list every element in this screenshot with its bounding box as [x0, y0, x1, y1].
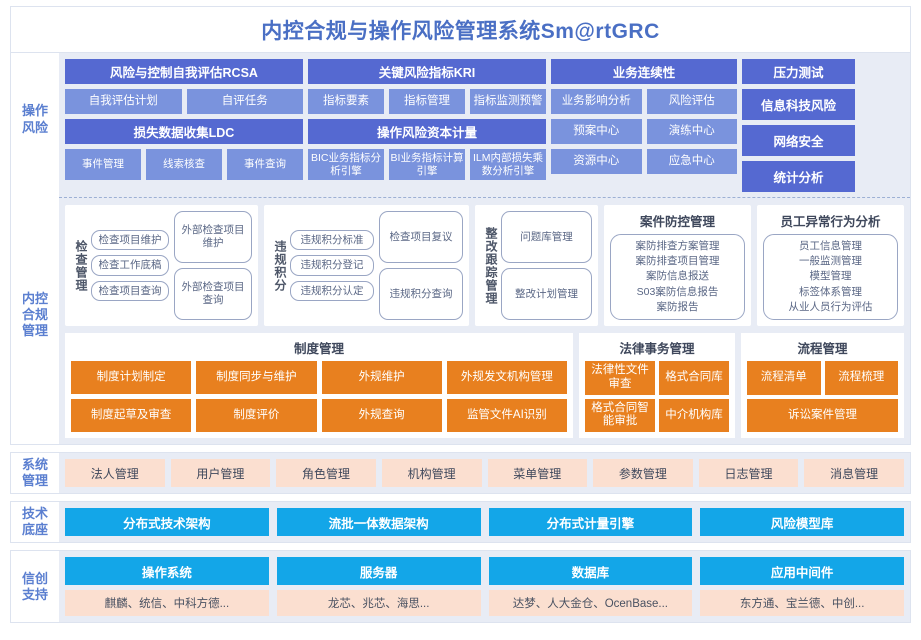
obtn-process-combing[interactable]: 流程梳理 [825, 361, 899, 395]
card-items-violation-points: 违规积分标准 违规积分登记 违规积分认定 检查项目复议 违规积分查询 [290, 211, 463, 320]
sys-cell-menu-management[interactable]: 菜单管理 [488, 459, 588, 487]
internal-control-zone: 检查管理 检查项目维护 检查工作底稿 检查项目查询 外部检查项目维护 外部检查项… [59, 198, 910, 444]
tech-base-grid: 分布式技术架构 流批一体数据架构 分布式计量引擎 风险模型库 [65, 508, 904, 536]
xinchuang-sub-os: 麒麟、统信、中科方德... [65, 590, 269, 616]
xinchuang-head-os[interactable]: 操作系统 [65, 557, 269, 585]
tech-base-band: 技术 底座 分布式技术架构 流批一体数据架构 分布式计量引擎 风险模型库 [10, 501, 911, 543]
obtn-standard-contract-library[interactable]: 格式合同库 [659, 361, 729, 395]
op-head-ldc[interactable]: 损失数据收集LDC [65, 119, 303, 144]
xinchuang-column-os: 操作系统 麒麟、统信、中科方德... [65, 557, 269, 616]
xinchuang-head-middleware[interactable]: 应用中间件 [700, 557, 904, 585]
card-violation-points: 违规积分 违规积分标准 违规积分登记 违规积分认定 检查项目复议 违规积分查询 [264, 205, 469, 326]
operational-risk-zone: 风险与控制自我评估RCSA 自我评估计划 自评任务 损失数据收集LDC 事件管理… [59, 53, 910, 198]
card-rectification-tracking: 整改跟踪管理 问题库管理 整改计划管理 [475, 205, 598, 326]
row-label-tech-base: 技术 底座 [11, 502, 59, 542]
card-title-case-prevention: 案件防控管理 [610, 211, 745, 230]
sys-cell-message-management[interactable]: 消息管理 [804, 459, 904, 487]
pill-inspection-reconsideration[interactable]: 检查项目复议 [379, 211, 463, 263]
op-cell-event-management[interactable]: 事件管理 [65, 149, 141, 180]
pill-violation-registration[interactable]: 违规积分登记 [290, 255, 374, 276]
sys-cell-legal-entity-management[interactable]: 法人管理 [65, 459, 165, 487]
case-prevention-line-2: 案防排查项目管理 [617, 254, 738, 269]
pill-external-inspection-query[interactable]: 外部检查项目查询 [174, 268, 252, 320]
row-label-internal-control-line3: 管理 [22, 323, 48, 339]
xinchuang-sub-database: 达梦、人大金仓、OcenBase... [489, 590, 693, 616]
row-label-system-management-line1: 系统 [22, 457, 48, 473]
pill-inspection-item-query[interactable]: 检查项目查询 [91, 281, 169, 302]
card-case-prevention: 案件防控管理 案防排查方案管理 案防排查项目管理 案防信息报送 S03案防信息报… [604, 205, 751, 326]
obtn-litigation-case-management[interactable]: 诉讼案件管理 [747, 399, 898, 433]
obtn-process-list[interactable]: 流程清单 [747, 361, 821, 395]
row-label-system-management: 系统 管理 [11, 453, 59, 493]
page-title-bar: 内控合规与操作风险管理系统Sm@rtGRC [10, 6, 911, 52]
op-cell-plan-center[interactable]: 预案中心 [551, 119, 642, 144]
op-cell-risk-assessment[interactable]: 风险评估 [647, 89, 738, 114]
xinchuang-sub-middleware: 东方通、宝兰德、中创... [700, 590, 904, 616]
case-prevention-line-5: 案防报告 [617, 300, 738, 315]
xinchuang-head-server[interactable]: 服务器 [277, 557, 481, 585]
op-row-bcm-1: 业务影响分析 风险评估 [551, 89, 737, 114]
tech-cell-distributed-architecture[interactable]: 分布式技术架构 [65, 508, 269, 536]
obtn-external-rule-issuing-org[interactable]: 外规发文机构管理 [447, 361, 567, 394]
obtn-regulatory-doc-ai-recognition[interactable]: 监管文件AI识别 [447, 399, 567, 432]
obtn-intermediary-library[interactable]: 中介机构库 [659, 399, 729, 433]
card-title-policy-management: 制度管理 [71, 338, 567, 357]
obtn-policy-sync-maintenance[interactable]: 制度同步与维护 [196, 361, 316, 394]
tech-cell-stream-batch-data-architecture[interactable]: 流批一体数据架构 [277, 508, 481, 536]
card-label-rectification-tracking: 整改跟踪管理 [481, 211, 501, 320]
xinchuang-column-server: 服务器 龙芯、兆芯、海思... [277, 557, 481, 616]
card-process-management: 流程管理 流程清单 流程梳理 诉讼案件管理 [741, 333, 904, 438]
row-label-operational-risk: 操作 风险 [11, 53, 59, 186]
row-label-operational-risk-line1: 操作 [22, 103, 48, 119]
card-title-process-management: 流程管理 [747, 338, 898, 357]
sys-cell-parameter-management[interactable]: 参数管理 [593, 459, 693, 487]
employee-behavior-line-3: 模型管理 [770, 269, 891, 284]
op-head-business-continuity[interactable]: 业务连续性 [551, 59, 737, 84]
architecture-diagram-page: 内控合规与操作风险管理系统Sm@rtGRC 操作 风险 内控 合规 管理 [0, 0, 921, 640]
main-band: 操作 风险 内控 合规 管理 风险与控制自我评估RCSA [10, 52, 911, 445]
card-title-legal-affairs: 法律事务管理 [585, 338, 729, 357]
row-label-xinchuang-line1: 信创 [22, 571, 48, 587]
op-btn-statistical-analysis[interactable]: 统计分析 [742, 161, 855, 192]
op-row-bcm-2: 预案中心 演练中心 [551, 119, 737, 144]
pill-col-rectification: 问题库管理 整改计划管理 [501, 211, 592, 320]
pill-rectification-plan-management[interactable]: 整改计划管理 [501, 268, 592, 320]
pill-violation-query[interactable]: 违规积分查询 [379, 268, 463, 320]
card-inspection-management: 检查管理 检查项目维护 检查工作底稿 检查项目查询 外部检查项目维护 外部检查项… [65, 205, 258, 326]
pill-col-inspection-b: 外部检查项目维护 外部检查项目查询 [174, 211, 252, 320]
op-cell-ilm-engine[interactable]: ILM内部损失乘数分析引擎 [470, 149, 546, 180]
xinchuang-body: 操作系统 麒麟、统信、中科方德... 服务器 龙芯、兆芯、海思... 数据库 达… [59, 551, 910, 622]
legal-affairs-grid: 法律性文件审查 格式合同库 格式合同智能审批 中介机构库 [585, 361, 729, 432]
op-cell-self-assessment-task[interactable]: 自评任务 [187, 89, 304, 114]
process-management-row-1: 流程清单 流程梳理 [747, 361, 898, 395]
op-cell-emergency-center[interactable]: 应急中心 [647, 149, 738, 174]
employee-behavior-line-5: 从业人员行为评估 [770, 300, 891, 315]
card-title-employee-behavior: 员工异常行为分析 [763, 211, 898, 230]
system-management-grid: 法人管理 用户管理 角色管理 机构管理 菜单管理 参数管理 日志管理 消息管理 [65, 459, 904, 487]
card-items-rectification-tracking: 问题库管理 整改计划管理 [501, 211, 592, 320]
case-prevention-line-3: 案防信息报送 [617, 269, 738, 284]
row-label-operational-risk-line2: 风险 [22, 120, 48, 136]
op-cell-indicator-management[interactable]: 指标管理 [389, 89, 465, 114]
system-management-band: 系统 管理 法人管理 用户管理 角色管理 机构管理 菜单管理 参数管理 日志管理… [10, 452, 911, 494]
row-label-internal-control: 内控 合规 管理 [11, 186, 59, 444]
card-items-inspection-management: 检查项目维护 检查工作底稿 检查项目查询 外部检查项目维护 外部检查项目查询 [91, 211, 252, 320]
card-employee-behavior: 员工异常行为分析 员工信息管理 一般监测管理 模型管理 标签体系管理 从业人员行… [757, 205, 904, 326]
op-row-bcm-3: 资源中心 应急中心 [551, 149, 737, 174]
tech-cell-risk-model-library[interactable]: 风险模型库 [700, 508, 904, 536]
xinchuang-sub-server: 龙芯、兆芯、海思... [277, 590, 481, 616]
op-row-kri: 指标要素 指标管理 指标监测预警 [308, 89, 546, 114]
obtn-external-rule-maintenance[interactable]: 外规维护 [322, 361, 442, 394]
pill-inspection-item-maintain[interactable]: 检查项目维护 [91, 230, 169, 251]
pill-inspection-workpaper[interactable]: 检查工作底稿 [91, 255, 169, 276]
employee-behavior-line-2: 一般监测管理 [770, 254, 891, 269]
pill-block-employee-behavior[interactable]: 员工信息管理 一般监测管理 模型管理 标签体系管理 从业人员行为评估 [763, 234, 898, 320]
pill-external-inspection-maintain[interactable]: 外部检查项目维护 [174, 211, 252, 263]
op-column-rcsa: 风险与控制自我评估RCSA 自我评估计划 自评任务 损失数据收集LDC 事件管理… [65, 59, 303, 192]
case-prevention-line-1: 案防排查方案管理 [617, 239, 738, 254]
sys-cell-log-management[interactable]: 日志管理 [699, 459, 799, 487]
op-column-kri: 关键风险指标KRI 指标要素 指标管理 指标监测预警 操作风险资本计量 BIC业… [308, 59, 546, 192]
operational-risk-grid: 风险与控制自我评估RCSA 自我评估计划 自评任务 损失数据收集LDC 事件管理… [65, 59, 904, 192]
xinchuang-grid: 操作系统 麒麟、统信、中科方德... 服务器 龙芯、兆芯、海思... 数据库 达… [65, 557, 904, 616]
pill-issue-library-management[interactable]: 问题库管理 [501, 211, 592, 263]
process-management-row-2: 诉讼案件管理 [747, 399, 898, 433]
obtn-standard-contract-smart-approval[interactable]: 格式合同智能审批 [585, 399, 655, 433]
op-btn-it-risk[interactable]: 信息科技风险 [742, 89, 855, 120]
obtn-policy-drafting-review[interactable]: 制度起草及审查 [71, 399, 191, 432]
card-policy-management: 制度管理 制度计划制定 制度同步与维护 外规维护 外规发文机构管理 制度起草及审… [65, 333, 573, 438]
main-band-body: 风险与控制自我评估RCSA 自我评估计划 自评任务 损失数据收集LDC 事件管理… [59, 53, 910, 444]
card-legal-affairs: 法律事务管理 法律性文件审查 格式合同库 格式合同智能审批 中介机构库 [579, 333, 735, 438]
xinchuang-band: 信创 支持 操作系统 麒麟、统信、中科方德... 服务器 龙芯、兆芯、海思...… [10, 550, 911, 623]
obtn-policy-evaluation[interactable]: 制度评价 [196, 399, 316, 432]
xinchuang-head-database[interactable]: 数据库 [489, 557, 693, 585]
op-cell-business-impact-analysis[interactable]: 业务影响分析 [551, 89, 642, 114]
op-cell-drill-center[interactable]: 演练中心 [647, 119, 738, 144]
sys-cell-role-management[interactable]: 角色管理 [276, 459, 376, 487]
op-btn-network-security[interactable]: 网络安全 [742, 125, 855, 156]
xinchuang-column-database: 数据库 达梦、人大金仓、OcenBase... [489, 557, 693, 616]
op-column-business-continuity: 业务连续性 业务影响分析 风险评估 预案中心 演练中心 资源中心 应急中心 [551, 59, 737, 192]
op-cell-indicator-elements[interactable]: 指标要素 [308, 89, 384, 114]
pill-violation-determination[interactable]: 违规积分认定 [290, 281, 374, 302]
row-label-internal-control-line1: 内控 [22, 291, 48, 307]
op-row-rcsa: 自我评估计划 自评任务 [65, 89, 303, 114]
row-label-tech-base-line2: 底座 [22, 522, 48, 538]
employee-behavior-line-4: 标签体系管理 [770, 285, 891, 300]
policy-management-grid: 制度计划制定 制度同步与维护 外规维护 外规发文机构管理 制度起草及审查 制度评… [71, 361, 567, 432]
sys-cell-org-management[interactable]: 机构管理 [382, 459, 482, 487]
op-cell-bic-engine[interactable]: BIC业务指标分析引擎 [308, 149, 384, 180]
op-row-capital-measurement: BIC业务指标分析引擎 BI业务指标计算引擎 ILM内部损失乘数分析引擎 [308, 149, 546, 180]
card-label-inspection-management: 检查管理 [71, 211, 91, 320]
op-cell-resource-center[interactable]: 资源中心 [551, 149, 642, 174]
op-cell-indicator-monitoring-alert[interactable]: 指标监测预警 [470, 89, 546, 114]
op-cell-event-query[interactable]: 事件查询 [227, 149, 303, 180]
pill-col-inspection-a: 检查项目维护 检查工作底稿 检查项目查询 [91, 211, 169, 320]
row-label-system-management-line2: 管理 [22, 473, 48, 489]
row-label-xinchuang-line2: 支持 [22, 587, 48, 603]
pill-block-case-prevention[interactable]: 案防排查方案管理 案防排查项目管理 案防信息报送 S03案防信息报告 案防报告 [610, 234, 745, 320]
pill-col-violation-a: 违规积分标准 违规积分登记 违规积分认定 [290, 211, 374, 320]
tech-base-body: 分布式技术架构 流批一体数据架构 分布式计量引擎 风险模型库 [59, 502, 910, 542]
op-cell-bi-engine[interactable]: BI业务指标计算引擎 [389, 149, 465, 180]
pill-violation-standard[interactable]: 违规积分标准 [290, 230, 374, 251]
card-label-violation-points: 违规积分 [270, 211, 290, 320]
op-head-rcsa[interactable]: 风险与控制自我评估RCSA [65, 59, 303, 84]
main-band-labels: 操作 风险 内控 合规 管理 [11, 53, 59, 444]
op-column-standalone: 压力测试 信息科技风险 网络安全 统计分析 [742, 59, 855, 192]
system-management-body: 法人管理 用户管理 角色管理 机构管理 菜单管理 参数管理 日志管理 消息管理 [59, 453, 910, 493]
row-label-xinchuang: 信创 支持 [11, 551, 59, 622]
op-row-ldc: 事件管理 线索核查 事件查询 [65, 149, 303, 180]
row-label-tech-base-line1: 技术 [22, 506, 48, 522]
op-cell-clue-verification[interactable]: 线索核查 [146, 149, 222, 180]
xinchuang-column-middleware: 应用中间件 东方通、宝兰德、中创... [700, 557, 904, 616]
obtn-legal-document-review[interactable]: 法律性文件审查 [585, 361, 655, 395]
page-title: 内控合规与操作风险管理系统Sm@rtGRC [261, 15, 660, 45]
row-label-internal-control-line2: 合规 [22, 307, 48, 323]
pill-col-violation-b: 检查项目复议 违规积分查询 [379, 211, 463, 320]
tech-cell-distributed-measurement-engine[interactable]: 分布式计量引擎 [489, 508, 693, 536]
op-head-capital-measurement[interactable]: 操作风险资本计量 [308, 119, 546, 144]
obtn-external-rule-query[interactable]: 外规查询 [322, 399, 442, 432]
icc-bottom-cards: 制度管理 制度计划制定 制度同步与维护 外规维护 外规发文机构管理 制度起草及审… [65, 333, 904, 438]
sys-cell-user-management[interactable]: 用户管理 [171, 459, 271, 487]
op-btn-stress-test[interactable]: 压力测试 [742, 59, 855, 84]
case-prevention-line-4: S03案防信息报告 [617, 285, 738, 300]
op-cell-self-assessment-plan[interactable]: 自我评估计划 [65, 89, 182, 114]
process-management-flow: 流程清单 流程梳理 诉讼案件管理 [747, 361, 898, 432]
obtn-policy-plan-formulation[interactable]: 制度计划制定 [71, 361, 191, 394]
employee-behavior-line-1: 员工信息管理 [770, 239, 891, 254]
icc-top-cards: 检查管理 检查项目维护 检查工作底稿 检查项目查询 外部检查项目维护 外部检查项… [65, 205, 904, 326]
op-head-kri[interactable]: 关键风险指标KRI [308, 59, 546, 84]
